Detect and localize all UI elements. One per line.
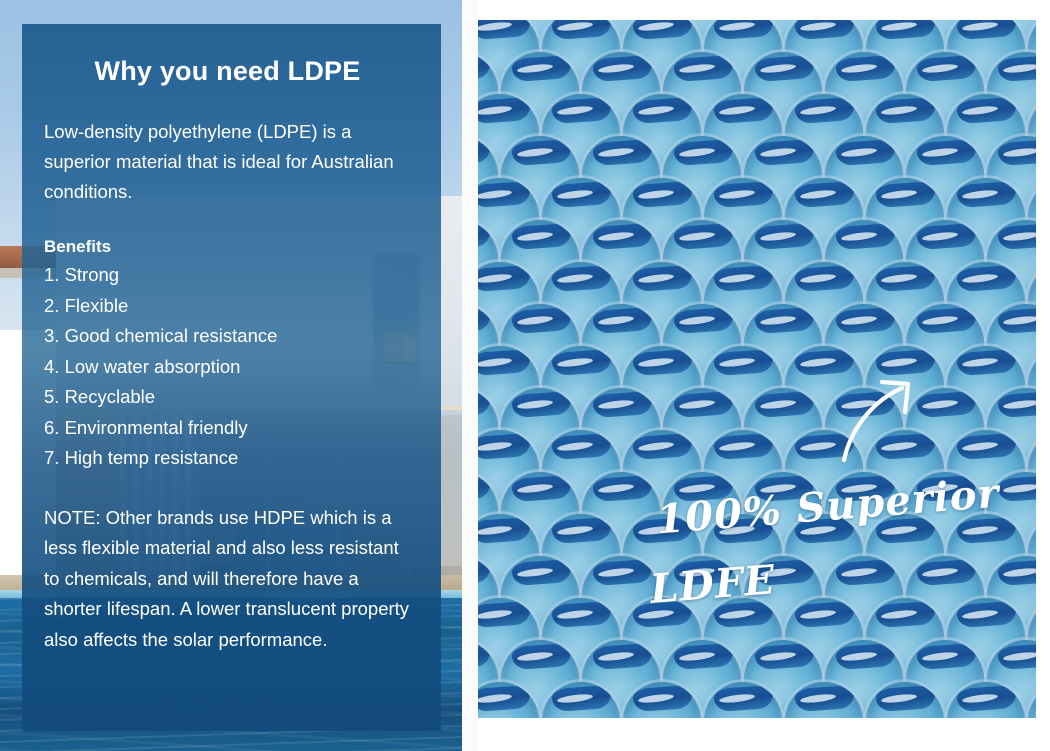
right-panel-bubble-photo: 100% Superior LDFE xyxy=(478,20,1036,718)
benefits-heading: Benefits xyxy=(44,237,411,257)
list-item: 5. Recyclable xyxy=(44,382,411,413)
list-item: 2. Flexible xyxy=(44,291,411,322)
benefits-list: 1. Strong 2. Flexible 3. Good chemical r… xyxy=(44,260,411,474)
ldpe-info-card: Why you need LDPE Low-density polyethyle… xyxy=(22,24,441,731)
card-title: Why you need LDPE xyxy=(44,56,411,87)
list-item: 3. Good chemical resistance xyxy=(44,321,411,352)
list-item: 6. Environmental friendly xyxy=(44,413,411,444)
list-item: 1. Strong xyxy=(44,260,411,291)
bubble-grid xyxy=(478,20,1036,718)
list-item: 7. High temp resistance xyxy=(44,443,411,474)
left-panel: Why you need LDPE Low-density polyethyle… xyxy=(0,0,462,751)
panel-divider-gap xyxy=(462,0,478,751)
annotation-line-2: LDFE xyxy=(648,556,777,613)
card-note-paragraph: NOTE: Other brands use HDPE which is a l… xyxy=(44,503,411,656)
list-item: 4. Low water absorption xyxy=(44,352,411,383)
card-intro-paragraph: Low-density polyethylene (LDPE) is a sup… xyxy=(44,117,411,207)
